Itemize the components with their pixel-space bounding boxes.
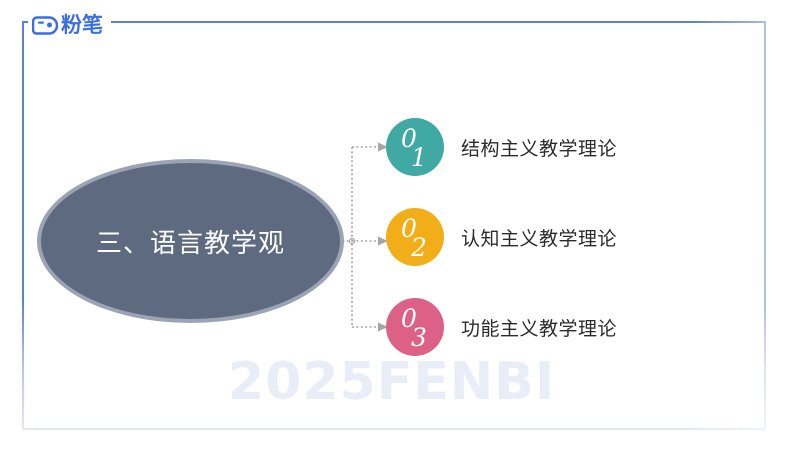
main-topic-label: 三、语言教学观 [96, 223, 285, 260]
slide-canvas: 2025FENBI 三、语言教学观 0 1 结构主义教学理论 0 2 [0, 0, 800, 450]
fb-mark-icon [32, 14, 58, 36]
number-badge-01: 0 1 [386, 118, 444, 176]
list-item[interactable]: 0 1 结构主义教学理论 [386, 118, 617, 176]
item-label: 结构主义教学理论 [461, 134, 617, 161]
number-badge-03: 0 3 [386, 298, 444, 356]
badge-digit-bottom: 2 [411, 235, 427, 260]
item-label: 功能主义教学理论 [461, 314, 617, 341]
main-topic-ellipse[interactable]: 三、语言教学观 [37, 159, 344, 323]
list-item[interactable]: 0 3 功能主义教学理论 [386, 298, 617, 356]
list-item[interactable]: 0 2 认知主义教学理论 [386, 208, 617, 266]
badge-digit-bottom: 1 [411, 145, 427, 170]
fenbi-logo[interactable]: 粉笔 [28, 11, 111, 39]
badge-digit-bottom: 3 [411, 325, 427, 350]
number-badge-02: 0 2 [386, 208, 444, 266]
item-label: 认知主义教学理论 [461, 224, 617, 251]
logo-wordmark: 粉笔 [61, 15, 103, 36]
